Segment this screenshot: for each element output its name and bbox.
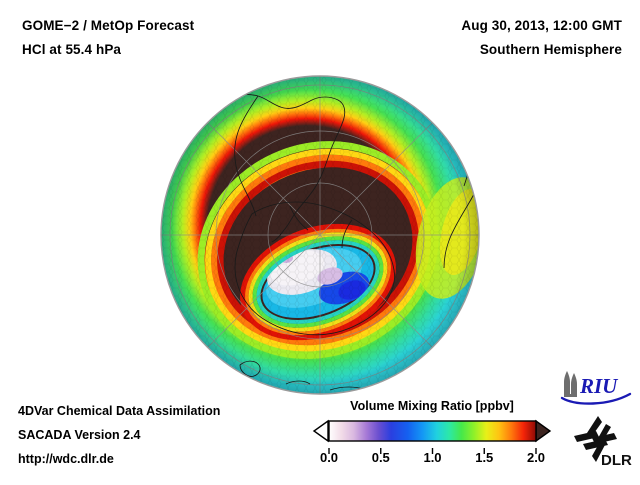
colorbar-tick-label: 2.0 xyxy=(527,450,545,465)
colorbar-tick-labels: 0.00.51.01.52.0 xyxy=(292,450,572,470)
riu-tower-icon xyxy=(564,371,577,397)
riu-wordmark: RIU xyxy=(579,374,619,398)
colorbar-tick-label: 1.0 xyxy=(423,450,441,465)
colorbar-gradient xyxy=(329,421,536,441)
colorbar-high-arrow xyxy=(536,421,550,441)
dlr-wordmark: DLR xyxy=(601,452,632,469)
colorbar[interactable] xyxy=(312,419,552,443)
hcl-field xyxy=(161,76,500,394)
website-link[interactable]: http://wdc.dlr.de xyxy=(18,452,114,466)
colorbar-tick-label: 0.0 xyxy=(320,450,338,465)
colorbar-swatch xyxy=(312,419,552,443)
colorbar-tick-label: 0.5 xyxy=(372,450,390,465)
colorbar-tick-label: 1.5 xyxy=(475,450,493,465)
version-label: SACADA Version 2.4 xyxy=(18,428,141,442)
dlr-logo: DLR xyxy=(568,414,632,470)
riu-logo: RIU xyxy=(560,370,634,408)
colorbar-low-arrow xyxy=(314,421,328,441)
colorbar-title: Volume Mixing Ratio [ppbv] xyxy=(318,399,546,413)
method-label: 4DVar Chemical Data Assimilation xyxy=(18,404,220,418)
